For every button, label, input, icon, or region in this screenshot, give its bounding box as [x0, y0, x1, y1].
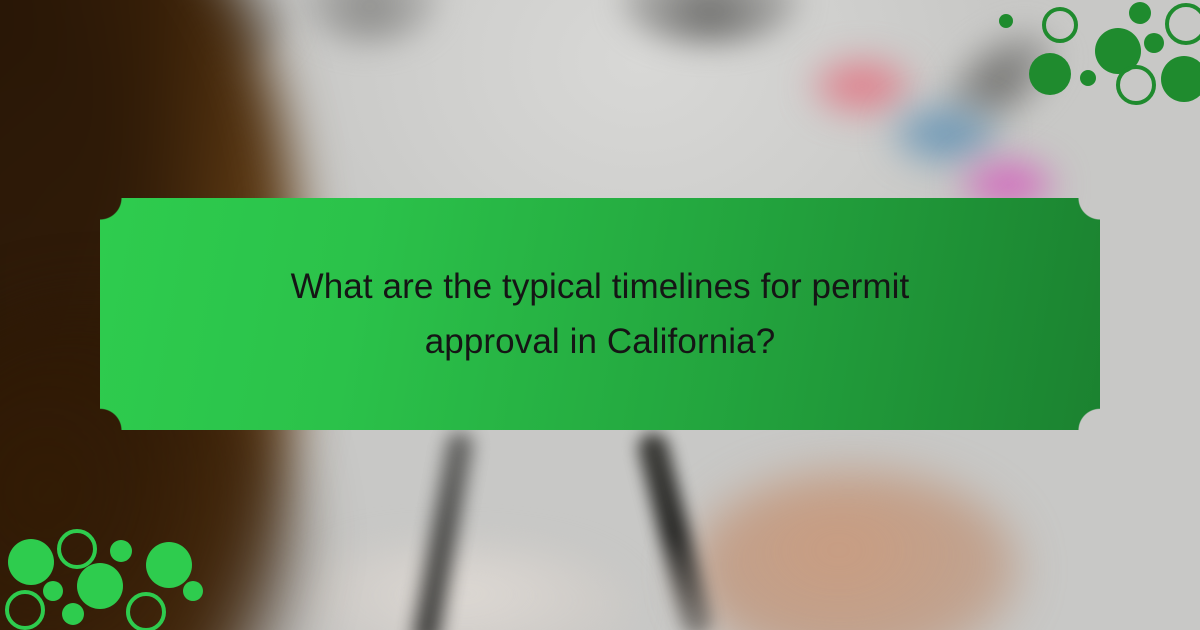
decorative-dot-filled	[1129, 2, 1151, 24]
decorative-dot-filled	[1144, 33, 1164, 53]
background-color-blob-blue	[892, 104, 998, 164]
decorative-dot-filled	[77, 563, 123, 609]
decorative-dot-ring	[1165, 3, 1200, 45]
decorative-dot-ring	[5, 590, 45, 630]
decorative-dot-filled	[110, 540, 132, 562]
background-color-blob-pink	[812, 58, 912, 114]
decorative-dot-ring	[1116, 65, 1156, 105]
decorative-dot-ring	[57, 529, 97, 569]
decorative-dot-filled	[62, 603, 84, 625]
decorative-dot-filled	[146, 542, 192, 588]
decorative-dots-bottom-left	[0, 515, 215, 630]
decorative-dot-ring	[1042, 7, 1078, 43]
question-text: What are the typical timelines for permi…	[250, 259, 950, 370]
decorative-dot-filled	[1161, 56, 1200, 102]
decorative-dot-filled	[8, 539, 54, 585]
decorative-dot-filled	[183, 581, 203, 601]
decorative-dot-filled	[1080, 70, 1096, 86]
decorative-dot-ring	[126, 592, 166, 630]
screenshot-canvas: What are the typical timelines for permi…	[0, 0, 1200, 630]
question-card: What are the typical timelines for permi…	[100, 198, 1100, 430]
decorative-dot-filled	[1029, 53, 1071, 95]
decorative-dot-filled	[43, 581, 63, 601]
decorative-dot-filled	[999, 14, 1013, 28]
decorative-dots-top-right	[985, 0, 1200, 115]
